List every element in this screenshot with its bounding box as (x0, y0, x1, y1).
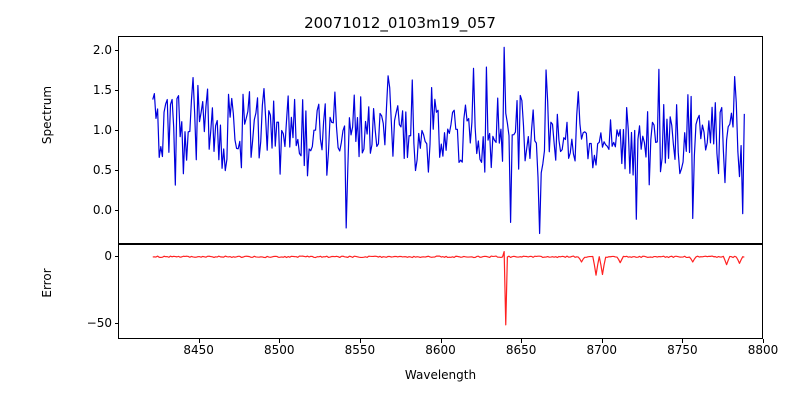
x-tick-label: 8500 (249, 343, 309, 357)
x-tick-label: 8450 (169, 343, 229, 357)
x-tick-label: 8700 (572, 343, 632, 357)
spectrum-panel (118, 36, 763, 244)
error-panel (118, 244, 763, 339)
y-tick-label: 1.0 (93, 123, 112, 137)
error-line-plot (119, 245, 762, 338)
x-tick-mark (602, 339, 603, 343)
x-tick-mark (441, 339, 442, 343)
spectrum-trace (153, 47, 745, 233)
y-axis-label-spectrum: Spectrum (40, 55, 54, 175)
x-tick-mark (763, 339, 764, 343)
y-tick-label-wrap: 0 (60, 249, 112, 263)
y-tick-label: 0.5 (93, 163, 112, 177)
x-axis-label: Wavelength (118, 368, 763, 382)
x-tick-label: 8550 (330, 343, 390, 357)
y-tick-label-wrap: 1.0 (60, 123, 112, 137)
y-tick-mark (115, 130, 119, 131)
x-tick-label: 8800 (733, 343, 793, 357)
y-tick-mark (115, 256, 119, 257)
page-title: 20071012_0103m19_057 (0, 14, 800, 32)
x-tick-mark (199, 339, 200, 343)
y-tick-mark (115, 50, 119, 51)
x-tick-label: 8600 (411, 343, 471, 357)
y-tick-mark (115, 90, 119, 91)
spectrum-figure: 20071012_0103m19_057 Spectrum Error Wave… (0, 0, 800, 400)
y-tick-label: 0.0 (93, 203, 112, 217)
spectrum-line-plot (119, 37, 762, 243)
y-tick-label-wrap: 0.5 (60, 163, 112, 177)
y-tick-label-wrap: −50 (60, 316, 112, 330)
x-tick-mark (360, 339, 361, 343)
y-tick-mark (115, 210, 119, 211)
y-tick-label-wrap: 2.0 (60, 43, 112, 57)
x-tick-mark (521, 339, 522, 343)
y-tick-label: 1.5 (93, 83, 112, 97)
error-trace (153, 252, 745, 325)
y-tick-label: −50 (87, 316, 112, 330)
y-tick-mark (115, 323, 119, 324)
y-axis-label-error: Error (40, 233, 54, 333)
x-tick-mark (682, 339, 683, 343)
x-tick-mark (279, 339, 280, 343)
y-tick-label: 2.0 (93, 43, 112, 57)
x-tick-label: 8650 (491, 343, 551, 357)
y-tick-label-wrap: 1.5 (60, 83, 112, 97)
y-tick-label: 0 (104, 249, 112, 263)
y-tick-label-wrap: 0.0 (60, 203, 112, 217)
y-tick-mark (115, 170, 119, 171)
x-tick-label: 8750 (652, 343, 712, 357)
